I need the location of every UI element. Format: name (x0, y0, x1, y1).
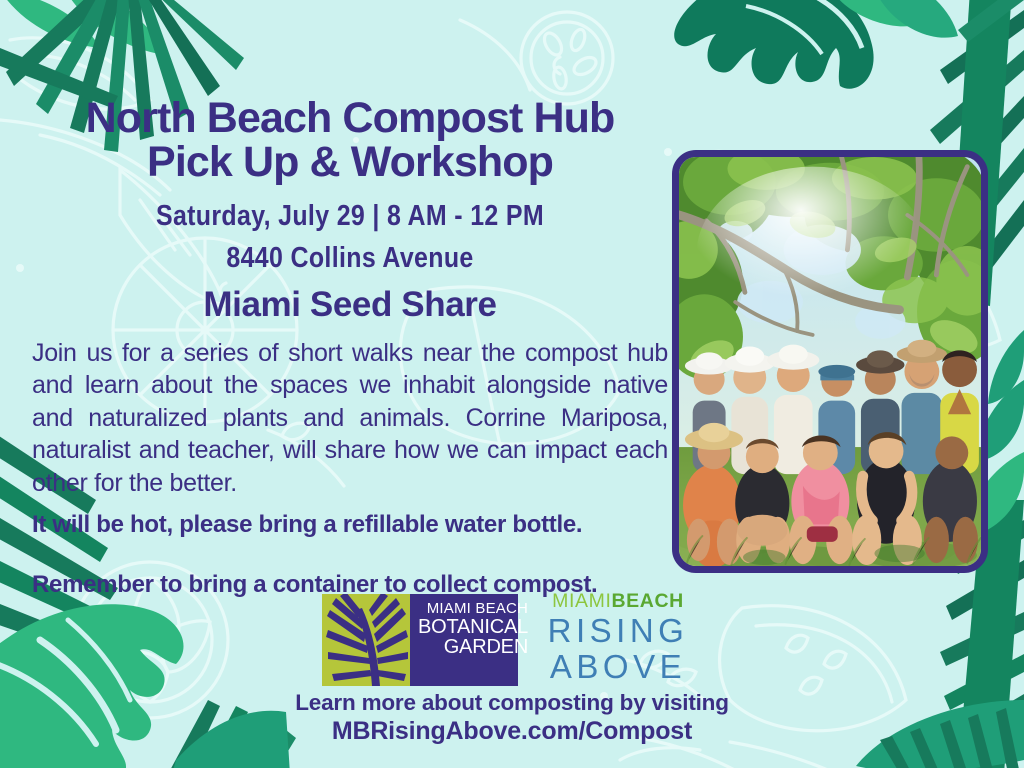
event-photo-image (679, 157, 981, 566)
botanical-garden-wordmark: MIAMI BEACH BOTANICAL GARDEN (410, 594, 534, 686)
miami-beach-rising-above-logo: MIAMIBEACH RISING ABOVE (538, 592, 698, 688)
logo-row: MIAMI BEACH BOTANICAL GARDEN MIAMIBEACH … (0, 594, 1024, 690)
rising-above-above: ABOVE (538, 650, 698, 684)
note-water-bottle: It will be hot, please bring a refillabl… (32, 511, 668, 539)
event-organization: Miami Seed Share (32, 285, 668, 325)
rising-above-rising: RISING (538, 614, 698, 648)
footer-url[interactable]: MBRisingAbove.com/Compost (0, 717, 1024, 746)
logo-line-3: GARDEN (418, 637, 528, 658)
footer-line-1: Learn more about composting by visiting (0, 690, 1024, 716)
flyer-canvas: North Beach Compost Hub Pick Up & Worksh… (0, 0, 1024, 768)
title-line-1: North Beach Compost Hub (32, 96, 668, 140)
rising-above-beach: BEACH (612, 590, 684, 612)
logo-line-1: MIAMI BEACH (418, 601, 528, 617)
rising-above-top-line: MIAMIBEACH (538, 592, 698, 612)
text-column: North Beach Compost Hub Pick Up & Worksh… (32, 96, 668, 599)
event-photo (672, 150, 988, 573)
event-datetime: Saturday, July 29 | 8 AM - 12 PM (77, 200, 624, 233)
event-address: 8440 Collins Avenue (77, 242, 624, 275)
logo-line-2: BOTANICAL (418, 617, 528, 638)
miami-beach-botanical-garden-logo: MIAMI BEACH BOTANICAL GARDEN (322, 594, 518, 686)
rising-above-miami: MIAMI (552, 590, 611, 612)
page-title: North Beach Compost Hub Pick Up & Worksh… (32, 96, 668, 185)
footer: Learn more about composting by visiting … (0, 690, 1024, 746)
palm-frond-icon (322, 594, 410, 686)
event-description: Join us for a series of short walks near… (32, 337, 668, 500)
title-line-2: Pick Up & Workshop (32, 140, 668, 184)
